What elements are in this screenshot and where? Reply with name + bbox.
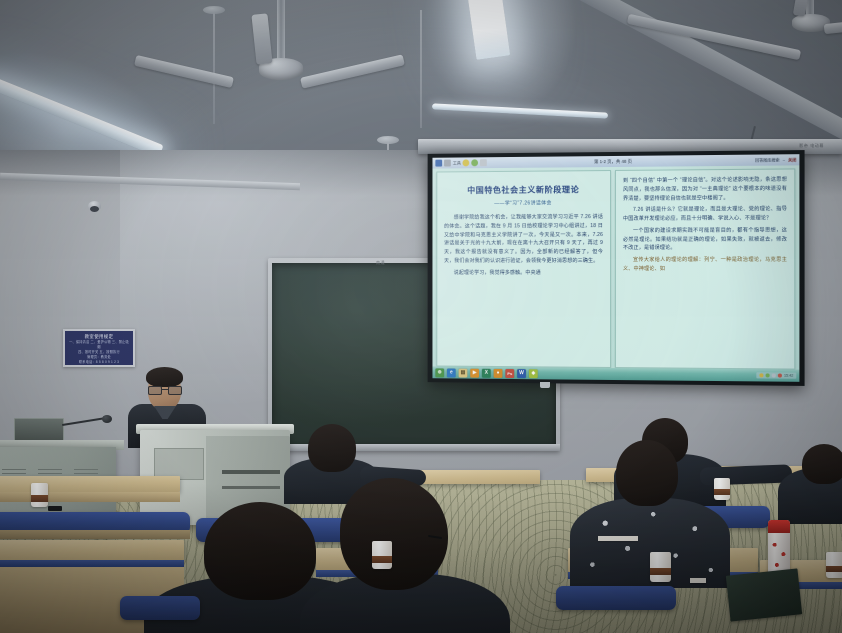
word-doc-icon[interactable] <box>435 160 442 167</box>
attendee-head <box>802 444 842 484</box>
desk-edge <box>0 560 184 567</box>
folder-icon[interactable]: ▤ <box>459 368 468 377</box>
glasses-lens <box>168 386 182 395</box>
podium-shelf-gap <box>222 470 280 474</box>
bottle-cap <box>768 520 790 533</box>
zoom-icon[interactable] <box>480 159 487 166</box>
document-paragraph: 感谢学院给我这个机会，让我能够大家交流学习习近平 7.26 讲话的体会。这个话题… <box>444 213 603 265</box>
glasses-lens <box>148 386 162 395</box>
seat-frame <box>0 530 190 539</box>
hanging-rod <box>420 10 422 128</box>
document-title: 中国特色社会主义新阶段理论 <box>444 183 603 196</box>
screen-pull-tab[interactable] <box>540 382 550 388</box>
screen-brand-label: 影帝 电动幕 <box>799 143 824 149</box>
firefox-icon[interactable]: ● <box>494 368 503 377</box>
window-controls[interactable]: 回答图库搜索 – 关闭 <box>755 157 796 163</box>
attendee-head <box>308 424 356 472</box>
tray-clock: 15:42 <box>784 374 793 378</box>
fan-downrod <box>277 0 285 64</box>
paper-cup <box>826 552 842 578</box>
document-paragraph: 说起理论学习，我觉得多感触。中央通 <box>444 268 603 277</box>
windows-taskbar[interactable]: ⊚ e ▤ ▶ X ● Ps W ◆ 15:42 <box>432 366 799 381</box>
glasses-icon <box>148 386 181 393</box>
start-button[interactable]: ⊚ <box>435 368 444 377</box>
shield-icon[interactable] <box>772 373 776 377</box>
page-indicator: 第 1-2 页，共 48 页 <box>594 158 632 164</box>
photoshop-icon[interactable]: Ps <box>505 369 514 378</box>
microphone-head <box>102 415 112 423</box>
attendee-head <box>616 440 678 506</box>
wall-sign-line: 一、保持清洁 二、爱护公物 三、禁止吸烟 <box>68 340 130 350</box>
close-button[interactable]: 关闭 <box>788 157 796 163</box>
fan-blade <box>251 13 272 64</box>
ceiling-fan <box>748 0 842 74</box>
attendee-center-front <box>330 478 470 633</box>
redo-icon[interactable] <box>472 159 479 166</box>
document-paragraph: 到 “四个自信” 中第一个 “理论自信”。对这个论述影响无隐，条这思想风同点，我… <box>623 176 787 204</box>
document-paragraph: 一个国家的建设求期实践不可能是盲目的，都有个指导思想，这必然是理论。如果结功就是… <box>623 226 787 253</box>
dome-camera <box>88 201 101 211</box>
ceiling-fan <box>196 0 366 105</box>
presenter-hair <box>146 367 183 387</box>
paper-cup <box>31 483 48 507</box>
glasses-bridge <box>161 389 168 390</box>
undo-icon[interactable] <box>463 159 470 166</box>
attendee-head <box>204 502 316 600</box>
save-icon[interactable] <box>444 160 451 167</box>
projection-screen: 工具 第 1-2 页，共 48 页 回答图库搜索 – 关闭 中国特色社会主义新阶… <box>428 150 805 386</box>
attendee-head <box>340 478 448 590</box>
classroom-photo: 教室使用规定 一、保持清洁 二、爱护公物 三、禁止吸烟 四、按时开关 五、按照执… <box>0 0 842 633</box>
student-desk <box>0 540 184 560</box>
attendee-far-right <box>786 444 842 514</box>
word-icon[interactable]: W <box>517 369 526 378</box>
bench-seatback <box>120 596 200 620</box>
bench-seatback <box>556 586 676 610</box>
wall-notice-sign: 教室使用规定 一、保持清洁 二、爱护公物 三、禁止吸烟 四、按时开关 五、按照执… <box>63 329 135 367</box>
document-subtitle: ——学“习”7.26讲话体会 <box>444 199 603 207</box>
wall-sign-line: 联系电话：8 5 8 0 9 1 2 3 <box>68 360 130 365</box>
document-page-left[interactable]: 中国特色社会主义新阶段理论 ——学“习”7.26讲话体会 感谢学院给我这个机会，… <box>436 170 611 368</box>
document-highlighted-paragraph: 宣传大家给人的理论的理解：列宁、一种是政治理论，马克思主义、中神理论、如 <box>623 256 787 274</box>
volume-icon[interactable] <box>759 373 763 377</box>
minimize-button[interactable]: – <box>783 157 785 162</box>
restore-label[interactable]: 回答图库搜索 <box>755 157 780 163</box>
document-view[interactable]: 中国特色社会主义新阶段理论 ——学“习”7.26讲话体会 感谢学院给我这个机会，… <box>432 165 799 369</box>
notebook <box>726 568 802 621</box>
input-method-icon[interactable] <box>778 373 782 377</box>
document-page-right[interactable]: 到 “四个自信” 中第一个 “理论自信”。对这个论述影响无隐，条这思想风同点，我… <box>615 168 795 369</box>
network-icon[interactable] <box>766 373 770 377</box>
desk-front-panel <box>0 492 180 502</box>
paper-sheet <box>598 536 638 541</box>
blackboard-brand-label: 南通 <box>376 260 385 266</box>
system-tray[interactable]: 15:42 <box>756 372 796 378</box>
browser-icon[interactable]: e <box>447 368 456 377</box>
phone <box>48 506 62 511</box>
tools-menu-label[interactable]: 工具 <box>453 160 461 166</box>
student-desk <box>0 476 180 492</box>
podium-shelf-gap <box>222 486 280 489</box>
active-window-icon[interactable]: ◆ <box>529 369 538 378</box>
paper-cup <box>650 552 671 582</box>
excel-icon[interactable]: X <box>482 368 491 377</box>
paper-sheet <box>690 578 706 583</box>
paper-cup <box>714 478 730 500</box>
projected-desktop: 工具 第 1-2 页，共 48 页 回答图库搜索 – 关闭 中国特色社会主义新阶… <box>432 154 799 382</box>
document-paragraph: 7.26 讲话是什么？它就是理论，而且是大理论、党的理论、指导中国改革开发理论必… <box>623 205 787 223</box>
media-player-icon[interactable]: ▶ <box>470 368 479 377</box>
paper-cup <box>372 541 392 569</box>
attendee-right-floral <box>598 440 708 570</box>
